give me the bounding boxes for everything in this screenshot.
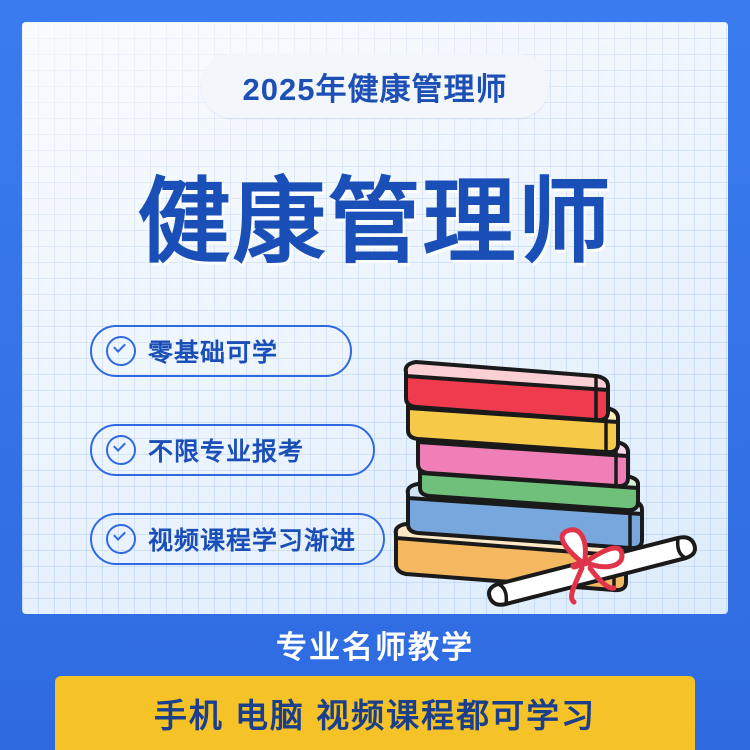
feature-item-2: 不限专业报考 [90, 424, 375, 476]
feature-item-3: 视频课程学习渐进 [90, 513, 385, 565]
poster-subtitle: 专业名师教学 [0, 622, 750, 667]
check-circle-icon [106, 336, 136, 366]
feature-label: 不限专业报考 [148, 432, 304, 468]
year-tag-label: 2025年健康管理师 [243, 64, 508, 109]
page-title: 健康管理师 [0, 172, 750, 272]
bottom-banner: 手机 电脑 视频课程都可学习 [55, 676, 695, 750]
feature-item-1: 零基础可学 [90, 325, 352, 377]
stacked-books-and-diploma-icon [378, 352, 718, 612]
feature-label: 视频课程学习渐进 [148, 521, 356, 557]
feature-label: 零基础可学 [148, 333, 278, 369]
check-circle-icon [106, 524, 136, 554]
year-tag: 2025年健康管理师 [201, 54, 549, 118]
bottom-banner-label: 手机 电脑 视频课程都可学习 [154, 689, 596, 737]
promo-poster: 2025年健康管理师 健康管理师 零基础可学 不限专业报考 视频课程学习渐进 [0, 0, 750, 750]
check-circle-icon [106, 435, 136, 465]
